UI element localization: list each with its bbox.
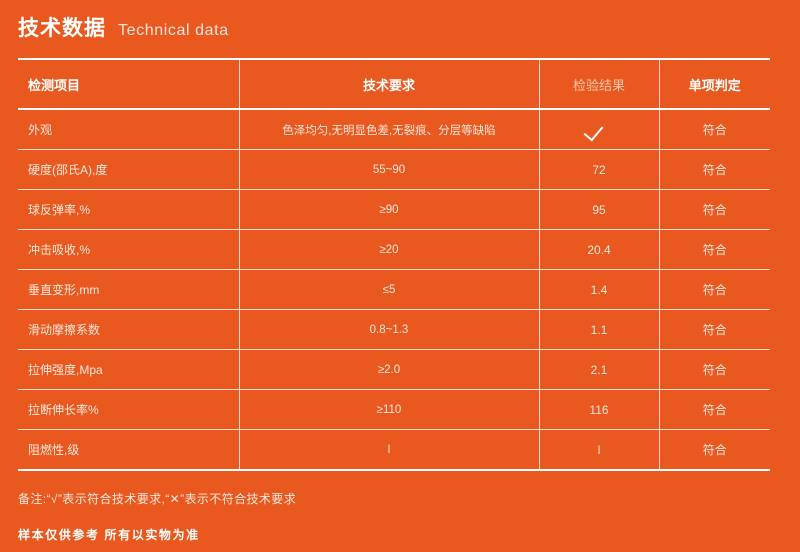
cell-requirement: ≤5: [239, 270, 539, 310]
cell-judgement: 符合: [659, 109, 770, 150]
table-row: 球反弹率,% ≥90 95 符合: [18, 190, 770, 230]
cell-item: 拉断伸长率%: [18, 390, 239, 430]
cell-requirement: 色泽均匀,无明显色差,无裂痕、分层等缺陷: [239, 109, 539, 150]
table-row: 垂直变形,mm ≤5 1.4 符合: [18, 270, 770, 310]
table-header-row: 检测项目 技术要求 检验结果 单项判定: [18, 59, 770, 109]
cell-result: 116: [539, 390, 659, 430]
cell-item: 冲击吸收,%: [18, 230, 239, 270]
cell-item: 球反弹率,%: [18, 190, 239, 230]
cell-result: [539, 109, 659, 150]
cell-judgement: 符合: [659, 190, 770, 230]
cell-result: 1.1: [539, 310, 659, 350]
cell-requirement: ≥90: [239, 190, 539, 230]
cell-judgement: 符合: [659, 230, 770, 270]
technical-data-table: 检测项目 技术要求 检验结果 单项判定 外观 色泽均匀,无明显色差,无裂痕、分层…: [18, 58, 770, 471]
cell-judgement: 符合: [659, 270, 770, 310]
note-disclaimer: 样本仅供参考 所有以实物为准: [18, 528, 782, 542]
cell-judgement: 符合: [659, 350, 770, 390]
note-remark: 备注:“√”表示符合技术要求,“✕”表示不符合技术要求: [18, 492, 782, 506]
table-row: 阻燃性,级 I I 符合: [18, 430, 770, 471]
cell-item: 滑动摩擦系数: [18, 310, 239, 350]
cell-judgement: 符合: [659, 310, 770, 350]
page-title-en: Technical data: [118, 22, 229, 40]
cell-judgement: 符合: [659, 390, 770, 430]
cell-requirement: I: [239, 430, 539, 471]
page-title-cn: 技术数据: [18, 12, 106, 42]
cell-requirement: 0.8~1.3: [239, 310, 539, 350]
column-header-judgement: 单项判定: [659, 59, 770, 109]
column-header-requirement: 技术要求: [239, 59, 539, 109]
cell-judgement: 符合: [659, 430, 770, 471]
technical-data-page: 技术数据 Technical data 检测项目 技术要求 检验结果 单项判定 …: [0, 0, 800, 552]
check-icon: [586, 120, 612, 136]
cell-item: 阻燃性,级: [18, 430, 239, 471]
cell-requirement: 55~90: [239, 150, 539, 190]
cell-result: 2.1: [539, 350, 659, 390]
cell-result: I: [539, 430, 659, 471]
cell-item: 垂直变形,mm: [18, 270, 239, 310]
table-body: 外观 色泽均匀,无明显色差,无裂痕、分层等缺陷 符合 硬度(邵氏A),度 55~…: [18, 109, 770, 470]
table-row: 拉伸强度,Mpa ≥2.0 2.1 符合: [18, 350, 770, 390]
column-header-item: 检测项目: [18, 59, 239, 109]
table-row: 硬度(邵氏A),度 55~90 72 符合: [18, 150, 770, 190]
cell-result: 72: [539, 150, 659, 190]
cell-result: 1.4: [539, 270, 659, 310]
cell-item: 外观: [18, 109, 239, 150]
cell-requirement: ≥110: [239, 390, 539, 430]
table-row: 冲击吸收,% ≥20 20.4 符合: [18, 230, 770, 270]
cell-item: 拉伸强度,Mpa: [18, 350, 239, 390]
table-row: 拉断伸长率% ≥110 116 符合: [18, 390, 770, 430]
cell-result: 95: [539, 190, 659, 230]
footer-notes: 备注:“√”表示符合技术要求,“✕”表示不符合技术要求 样本仅供参考 所有以实物…: [18, 492, 782, 543]
cell-requirement: ≥2.0: [239, 350, 539, 390]
cell-requirement: ≥20: [239, 230, 539, 270]
column-header-result: 检验结果: [539, 59, 659, 109]
cell-item: 硬度(邵氏A),度: [18, 150, 239, 190]
cell-result: 20.4: [539, 230, 659, 270]
page-title: 技术数据 Technical data: [18, 0, 782, 56]
cell-judgement: 符合: [659, 150, 770, 190]
table-row: 外观 色泽均匀,无明显色差,无裂痕、分层等缺陷 符合: [18, 109, 770, 150]
table-row: 滑动摩擦系数 0.8~1.3 1.1 符合: [18, 310, 770, 350]
